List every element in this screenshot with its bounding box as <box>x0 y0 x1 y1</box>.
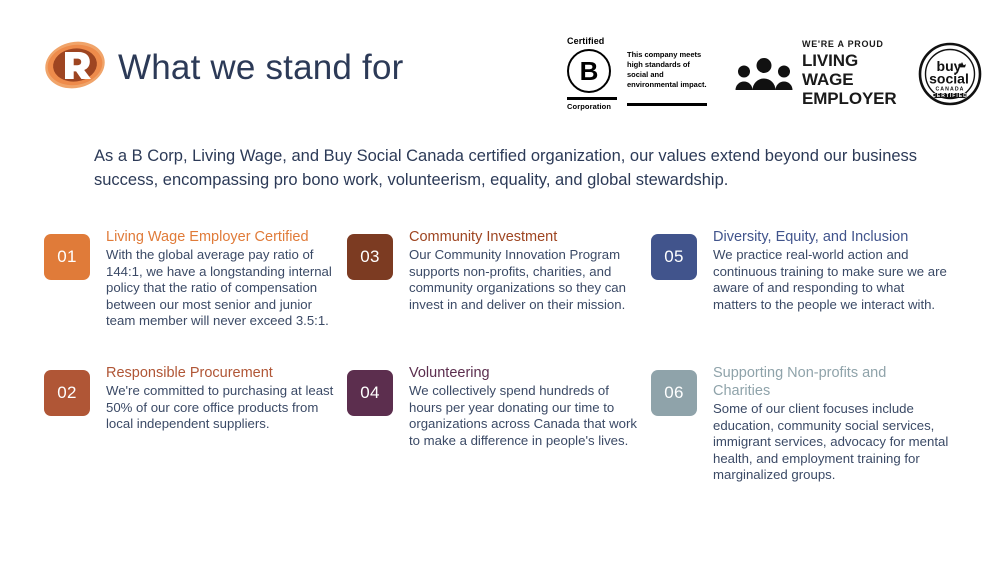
value-item-03: 03 Community Investment Our Community In… <box>347 222 637 358</box>
values-column-2: 03 Community Investment Our Community In… <box>347 222 637 449</box>
value-description-05: We practice real-world action and contin… <box>713 247 951 313</box>
living-wage-line-2: LIVING WAGE <box>802 51 897 89</box>
value-item-02: 02 Responsible Procurement We're committ… <box>44 358 334 433</box>
living-wage-line-1: WE'RE A PROUD <box>802 40 897 49</box>
value-number-badge-04: 04 <box>347 370 393 416</box>
value-title-01: Living Wage Employer Certified <box>106 228 334 246</box>
values-column-3: 05 Diversity, Equity, and Inclusion We p… <box>651 222 951 484</box>
value-title-04: Volunteering <box>409 364 637 382</box>
b-corp-certified-badge: Certified B Corporation This company mee… <box>567 36 707 112</box>
b-corp-letter: B <box>580 58 599 84</box>
value-title-06: Supporting Non-profits and Charities <box>713 364 888 400</box>
value-number-badge-06: 06 <box>651 370 697 416</box>
value-number-badge-02: 02 <box>44 370 90 416</box>
value-item-01: 01 Living Wage Employer Certified With t… <box>44 222 334 358</box>
rise-r-logo-icon <box>44 38 106 92</box>
values-column-1: 01 Living Wage Employer Certified With t… <box>44 222 334 433</box>
value-description-03: Our Community Innovation Program support… <box>409 247 637 313</box>
b-corp-certified-label: Certified <box>567 36 619 47</box>
value-item-05: 05 Diversity, Equity, and Inclusion We p… <box>651 222 951 358</box>
living-wage-employer-badge: WE'RE A PROUD LIVING WAGE EMPLOYER <box>735 47 890 101</box>
b-corp-tagline-divider <box>627 103 707 106</box>
value-number-badge-01: 01 <box>44 234 90 280</box>
value-number-badge-03: 03 <box>347 234 393 280</box>
intro-paragraph: As a B Corp, Living Wage, and Buy Social… <box>94 144 934 192</box>
three-people-icon <box>735 57 793 91</box>
value-title-03: Community Investment <box>409 228 637 246</box>
b-corp-circle-icon: B <box>567 49 611 93</box>
page-title: What we stand for <box>118 48 403 88</box>
living-wage-line-3: EMPLOYER <box>802 89 897 108</box>
value-description-02: We're committed to purchasing at least 5… <box>106 383 334 433</box>
value-number-badge-05: 05 <box>651 234 697 280</box>
certification-badges: Certified B Corporation This company mee… <box>567 36 982 112</box>
b-corp-corporation-label: Corporation <box>567 102 619 111</box>
svg-text:social: social <box>929 71 969 87</box>
b-corp-tagline: This company meets high standards of soc… <box>627 50 709 90</box>
value-title-02: Responsible Procurement <box>106 364 334 382</box>
svg-text:CERTIFIED: CERTIFIED <box>932 93 967 99</box>
value-description-06: Some of our client focuses include educa… <box>713 401 951 484</box>
value-title-05: Diversity, Equity, and Inclusion <box>713 228 951 246</box>
svg-text:CANADA: CANADA <box>935 87 964 93</box>
value-item-04: 04 Volunteering We collectively spend hu… <box>347 358 637 449</box>
b-corp-divider <box>567 97 617 100</box>
page-header: What we stand for Certified B Corporatio… <box>0 0 1000 125</box>
value-description-01: With the global average pay ratio of 144… <box>106 247 334 330</box>
buy-social-canada-badge: buy social CANADA CERTIFIED <box>918 42 982 106</box>
value-description-04: We collectively spend hundreds of hours … <box>409 383 637 449</box>
value-item-06: 06 Supporting Non-profits and Charities … <box>651 358 951 484</box>
